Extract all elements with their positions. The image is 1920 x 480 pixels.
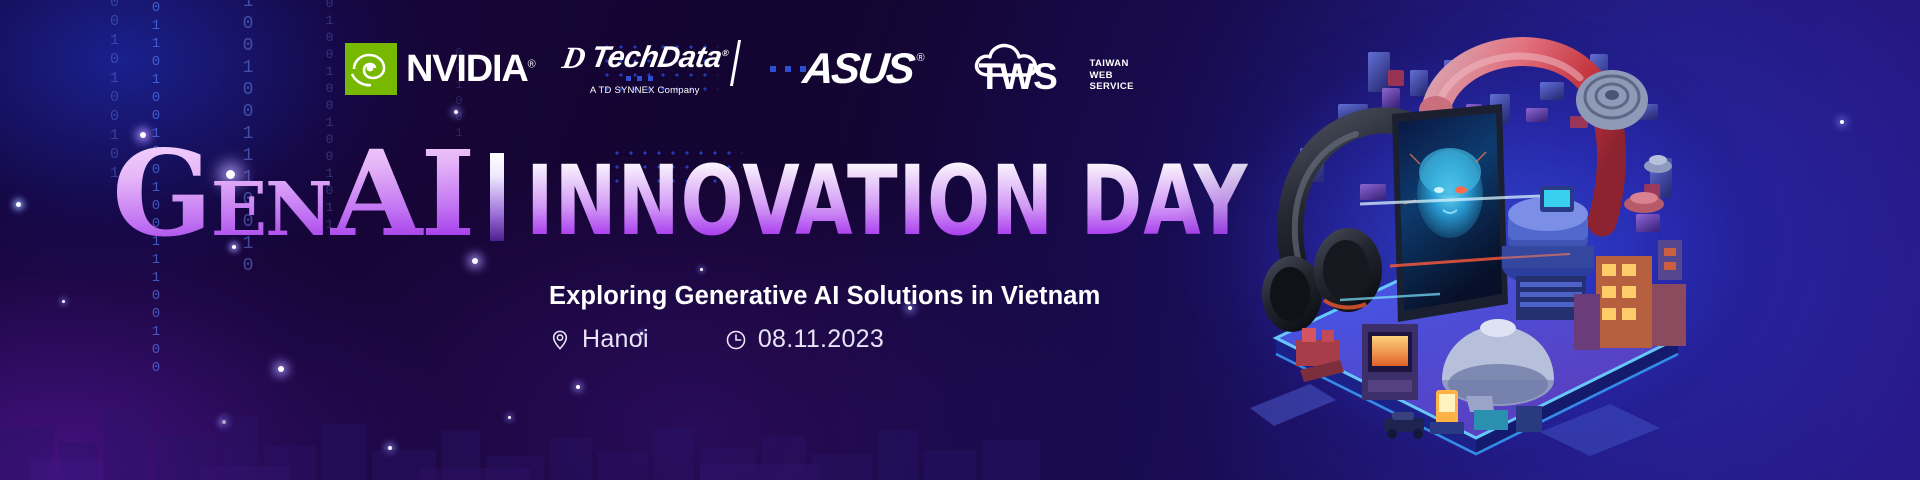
tws-tagline-line2: WEB <box>1090 70 1134 82</box>
sparkle-dot <box>700 268 703 271</box>
asus-wordmark: ASUS <box>801 48 915 91</box>
tech-data-registered-mark: ® <box>721 48 729 58</box>
genai-small-letters: EN <box>211 167 331 253</box>
tws-logo[interactable]: TWS TAIWAN WEB SERVICE <box>971 41 1134 97</box>
event-date: 08.11.2023 <box>725 325 884 354</box>
event-location: Hanoi <box>549 325 649 354</box>
nvidia-eye-icon <box>345 43 397 95</box>
nvidia-logo[interactable]: NVIDIA® <box>345 43 535 95</box>
tech-data-tagline: A TD SYNNEX Company <box>590 85 700 96</box>
clock-icon <box>725 329 747 351</box>
nvidia-wordmark-text: NVIDIA <box>406 48 528 90</box>
tws-tagline-line3: SERVICE <box>1090 81 1134 93</box>
sparkle-dot <box>1840 120 1844 124</box>
nvidia-wordmark: NVIDIA® <box>406 50 535 88</box>
event-date-label: 08.11.2023 <box>758 325 884 354</box>
scene-artwork <box>1240 8 1710 472</box>
asus-registered-mark: ® <box>916 52 924 64</box>
event-meta-row: Hanoi 08.11.2023 <box>549 325 884 354</box>
nvidia-registered-mark: ® <box>528 58 535 70</box>
asus-dot-accent <box>770 66 806 72</box>
sparkle-dot <box>454 110 458 114</box>
subtitle: Exploring Generative AI Solutions in Vie… <box>549 282 1100 311</box>
tws-tagline: TAIWAN WEB SERVICE <box>1090 58 1134 93</box>
partner-logo-row: NVIDIA® D TechData® A TD SYNNEX Company … <box>345 40 1134 98</box>
event-location-label: Hanoi <box>582 325 649 354</box>
tech-data-monogram: D <box>560 42 588 73</box>
tech-data-logo[interactable]: D TechData® A TD SYNNEX Company <box>563 42 741 96</box>
page-title: INNOVATION DAY <box>526 158 1248 248</box>
tech-data-wordmark-text: TechData <box>588 41 724 74</box>
tech-data-slash-accent <box>730 40 741 86</box>
headline-group: GENAI INNOVATION DAY <box>112 140 1365 249</box>
tws-wordmark: TWS <box>979 58 1057 95</box>
tws-tagline-line1: TAIWAN <box>1090 58 1134 70</box>
genai-tail-letters: AI <box>331 124 474 263</box>
genai-isometric-scene <box>1240 8 1710 472</box>
sparkle-dot <box>16 202 21 207</box>
location-pin-icon <box>549 329 571 351</box>
asus-logo[interactable]: ASUS ® <box>803 48 925 91</box>
nvidia-eye-glyph <box>349 48 393 90</box>
tech-data-dot-accent <box>626 76 653 81</box>
event-banner: 0010100101 011010010010011100100 1001001… <box>0 0 1920 480</box>
genai-brand-title: GENAI <box>112 140 474 249</box>
genai-lead-letter: G <box>112 124 211 263</box>
tech-data-wordmark: TechData® <box>588 43 729 73</box>
sparkle-dot <box>62 300 65 303</box>
headline-divider <box>490 153 504 241</box>
